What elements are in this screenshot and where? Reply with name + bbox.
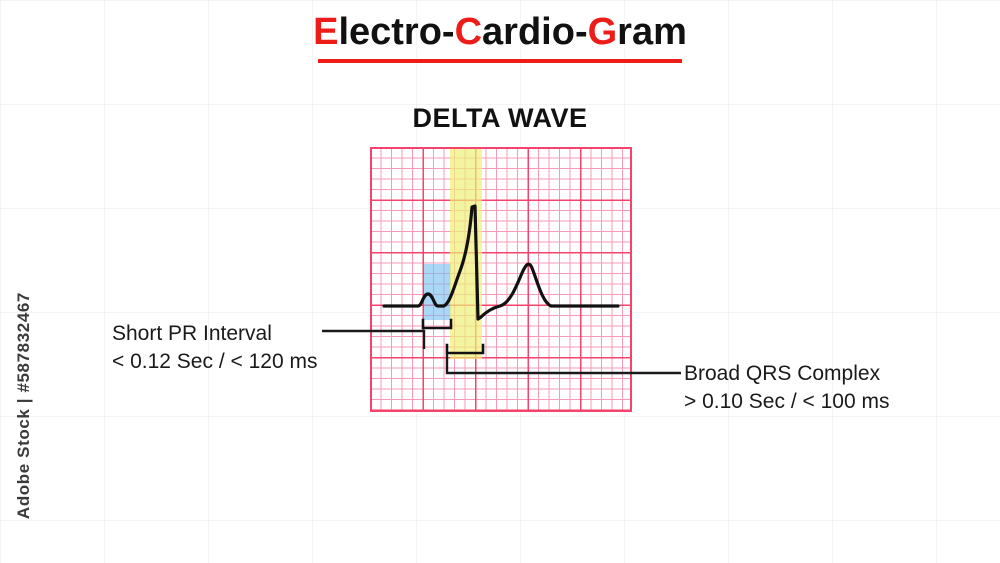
qrs-complex-annotation: Broad QRS Complex > 0.10 Sec / < 100 ms — [684, 360, 889, 417]
title-segment-5: ram — [617, 11, 687, 53]
title-segment-4: G — [588, 11, 618, 53]
title-segment-2: C — [455, 11, 482, 53]
ecg-grid-paper — [370, 147, 632, 412]
stock-watermark: Adobe Stock | #587832467 — [14, 292, 34, 519]
pr-annotation-line-1: Short PR Interval — [112, 320, 317, 348]
diagram-subtitle: DELTA WAVE — [0, 103, 1000, 134]
page-title-text: Electro-Cardio-Gram — [313, 12, 687, 54]
ecg-paper-border — [370, 147, 632, 412]
pr-interval-annotation: Short PR Interval < 0.12 Sec / < 120 ms — [112, 320, 317, 377]
page-title: Electro-Cardio-Gram — [0, 12, 1000, 54]
title-underline — [318, 59, 682, 63]
pr-annotation-line-2: < 0.12 Sec / < 120 ms — [112, 348, 317, 376]
qrs-annotation-line-1: Broad QRS Complex — [684, 360, 889, 388]
qrs-annotation-line-2: > 0.10 Sec / < 100 ms — [684, 388, 889, 416]
title-segment-0: E — [313, 11, 338, 53]
title-segment-3: ardio- — [482, 11, 588, 53]
title-segment-1: lectro- — [338, 11, 454, 53]
